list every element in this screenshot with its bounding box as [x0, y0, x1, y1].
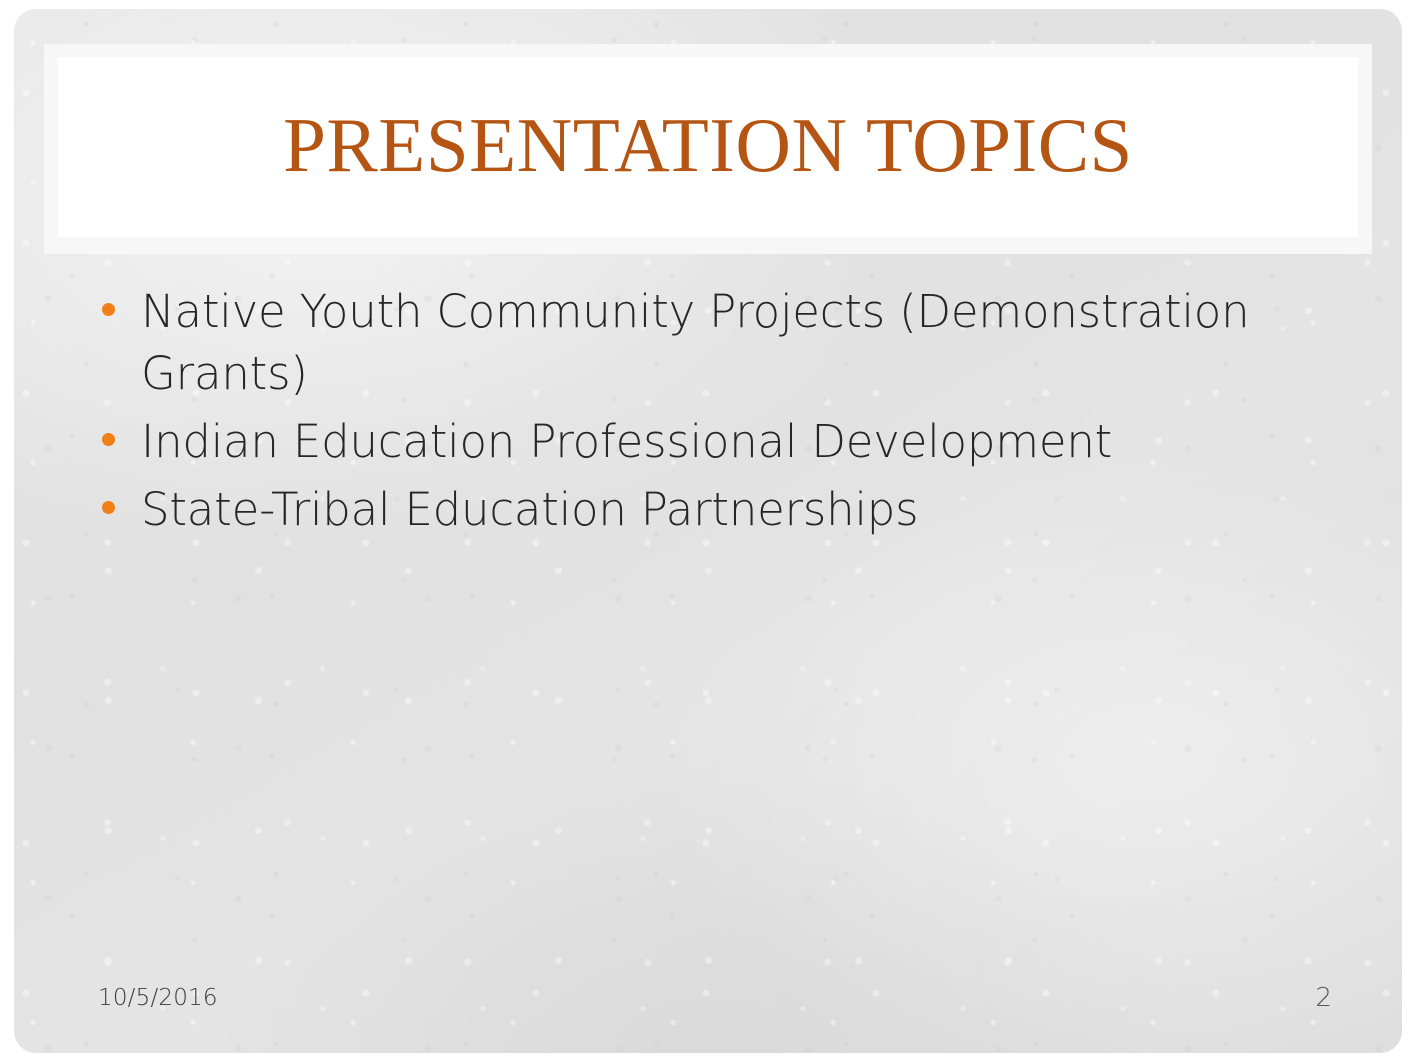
- slide-canvas: Presentation Topics Native Youth Communi…: [14, 9, 1402, 1053]
- bullet-text: Indian Education Professional Developmen…: [141, 411, 1291, 473]
- footer-date: 10/5/2016: [98, 985, 218, 1011]
- bullet-dot-icon: [102, 501, 115, 514]
- bullet-dot-icon: [102, 303, 115, 316]
- list-item: Indian Education Professional Developmen…: [102, 411, 1332, 473]
- bullet-dot-icon: [102, 433, 115, 446]
- list-item: State-Tribal Education Partnerships: [102, 479, 1332, 541]
- list-item: Native Youth Community Projects (Demonst…: [102, 281, 1332, 405]
- page-title: Presentation Topics: [283, 107, 1133, 184]
- bullet-text: State-Tribal Education Partnerships: [141, 479, 1291, 541]
- bullet-list: Native Youth Community Projects (Demonst…: [102, 281, 1332, 547]
- presentation-slide: Presentation Topics Native Youth Communi…: [0, 0, 1416, 1062]
- bullet-text: Native Youth Community Projects (Demonst…: [141, 281, 1291, 405]
- slide-number: 2: [1315, 983, 1332, 1013]
- title-plate: Presentation Topics: [58, 57, 1358, 237]
